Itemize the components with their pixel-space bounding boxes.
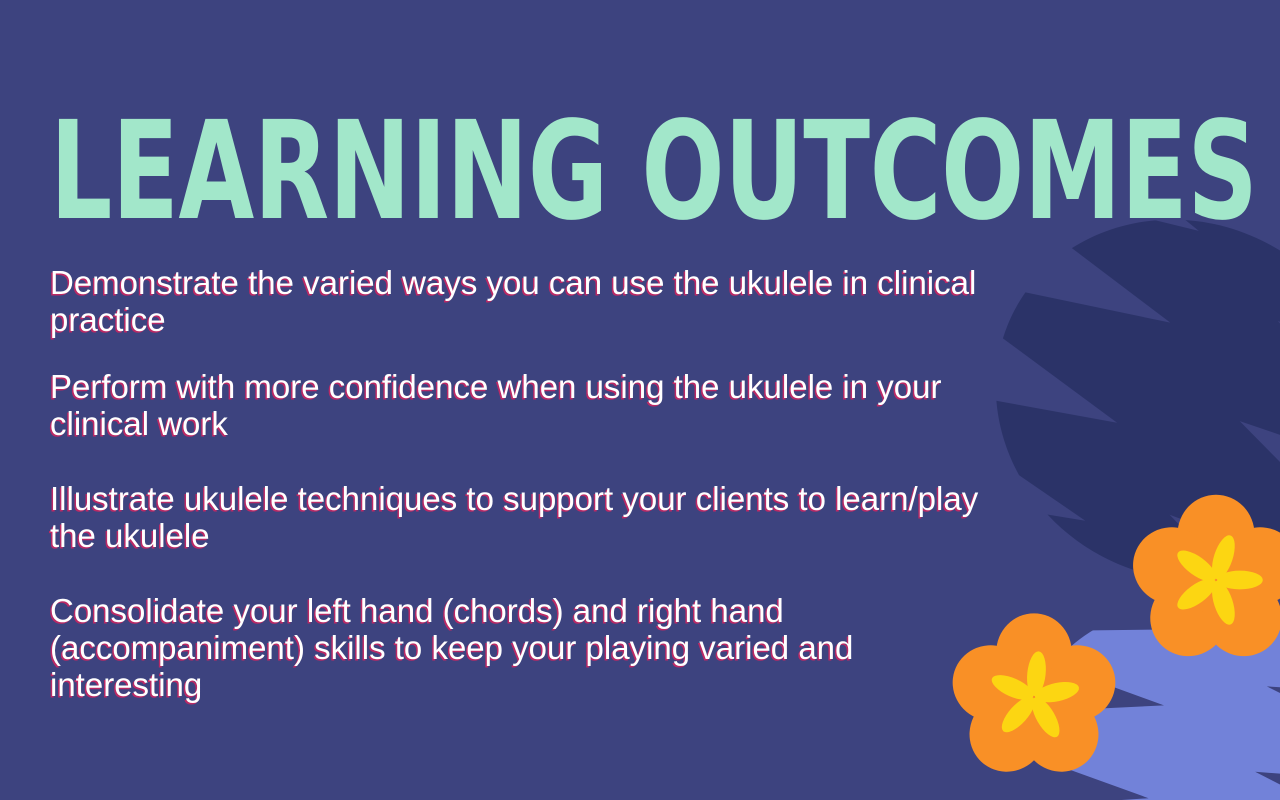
monstera-leaf-light-icon (997, 571, 1280, 800)
list-item: Demonstrate the varied ways you can use … (50, 265, 980, 339)
list-item: Illustrate ukulele techniques to support… (50, 481, 980, 555)
list-item: Perform with more confidence when using … (50, 369, 980, 443)
page-title: LEARNING OUTCOMES (50, 104, 1257, 240)
flower-upper-icon (1123, 495, 1280, 672)
learning-outcomes-list: Demonstrate the varied ways you can use … (50, 265, 980, 704)
slide-content: LEARNING OUTCOMES Demonstrate the varied… (0, 0, 1010, 800)
presentation-slide: LEARNING OUTCOMES Demonstrate the varied… (0, 0, 1280, 800)
list-item: Consolidate your left hand (chords) and … (50, 593, 980, 704)
